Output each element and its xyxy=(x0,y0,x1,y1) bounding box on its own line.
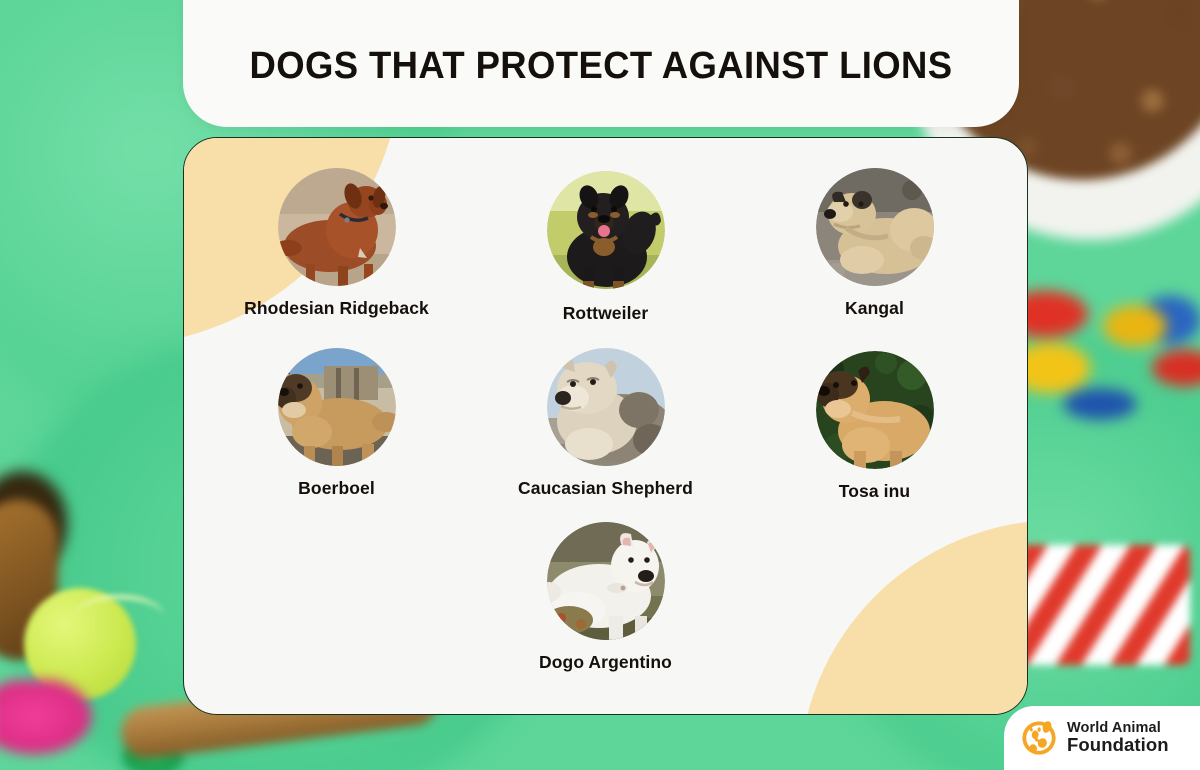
breed-label: Kangal xyxy=(845,298,904,319)
breed-row-2: Boerboel xyxy=(202,348,1009,502)
caucasian-shepherd-photo xyxy=(547,348,665,466)
page-title: DOGS THAT PROTECT AGAINST LIONS xyxy=(200,45,1003,88)
world-animal-foundation-icon xyxy=(1020,719,1058,757)
boerboel-photo xyxy=(278,348,396,466)
breed-item-rottweiler[interactable]: Rottweiler xyxy=(482,168,730,324)
breed-item-dogo-argentino[interactable]: Dogo Argentino xyxy=(482,522,730,673)
logo-line-two: Foundation xyxy=(1067,736,1169,755)
rottweiler-photo xyxy=(547,171,665,289)
tennis-ball-seam xyxy=(74,595,164,639)
breed-label: Dogo Argentino xyxy=(539,652,672,673)
tosa-inu-photo xyxy=(816,351,934,469)
breed-row-1: Rhodesian Ridgeback xyxy=(202,168,1009,324)
kangal-photo xyxy=(816,168,934,286)
pink-toy xyxy=(0,680,100,760)
breed-label: Rottweiler xyxy=(563,303,649,324)
breed-label: Rhodesian Ridgeback xyxy=(244,298,429,319)
breed-label: Caucasian Shepherd xyxy=(518,478,693,499)
title-banner: DOGS THAT PROTECT AGAINST LIONS xyxy=(183,0,1019,127)
breed-grid: Rhodesian Ridgeback xyxy=(184,138,1027,714)
breed-item-boerboel[interactable]: Boerboel xyxy=(213,348,461,499)
dogo-argentino-photo xyxy=(547,522,665,640)
breed-item-kangal[interactable]: Kangal xyxy=(751,168,999,319)
breed-label: Boerboel xyxy=(298,478,375,499)
brand-logo[interactable]: World Animal Foundation xyxy=(1004,706,1200,770)
breed-item-caucasian-shepherd[interactable]: Caucasian Shepherd xyxy=(482,348,730,499)
breed-row-3: Dogo Argentino xyxy=(202,522,1009,673)
breed-item-rhodesian-ridgeback[interactable]: Rhodesian Ridgeback xyxy=(213,168,461,319)
logo-wordmark: World Animal Foundation xyxy=(1067,721,1169,755)
striped-item xyxy=(1015,545,1190,665)
breed-item-tosa-inu[interactable]: Tosa inu xyxy=(751,348,999,502)
breed-label: Tosa inu xyxy=(839,481,910,502)
breed-card: Rhodesian Ridgeback xyxy=(183,137,1028,715)
rhodesian-ridgeback-photo xyxy=(278,168,396,286)
